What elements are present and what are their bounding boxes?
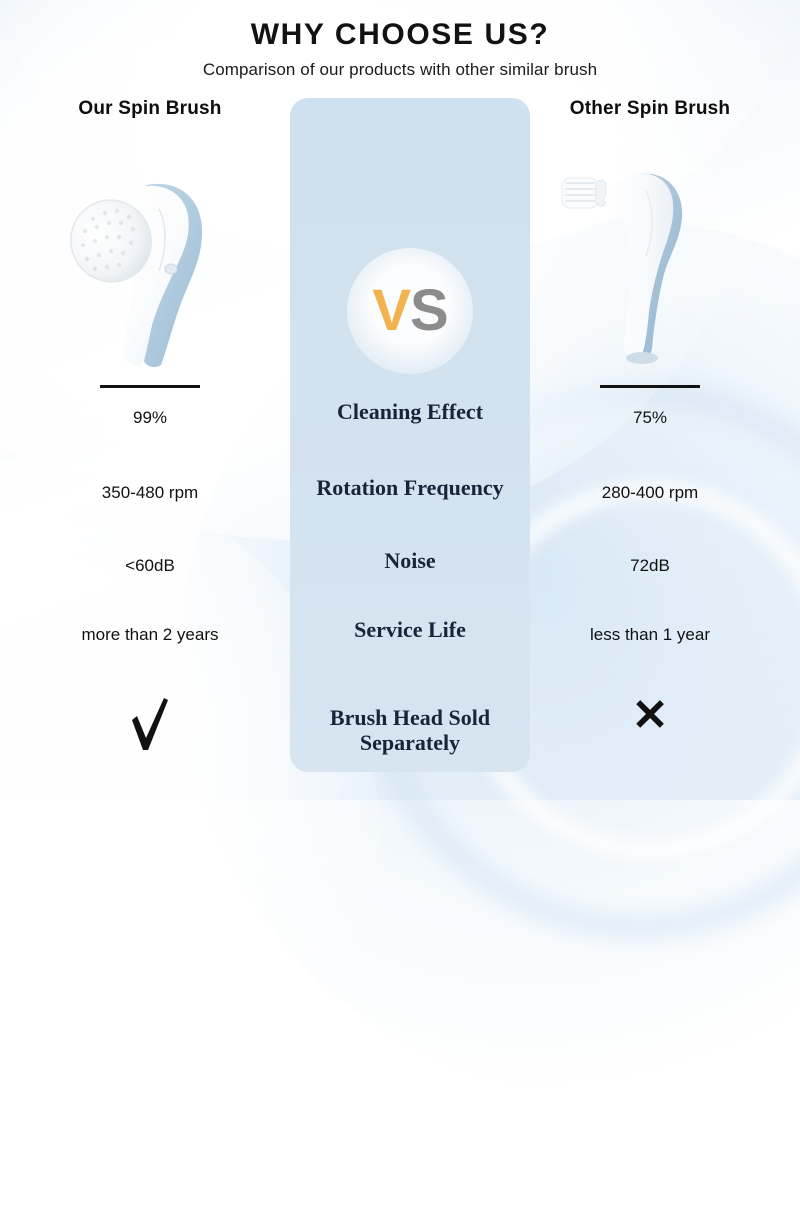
- vs-letter-s: S: [410, 278, 448, 343]
- criterion-brush-head-sold-separately: Brush Head Sold Separately: [290, 706, 530, 755]
- criterion-noise: Noise: [290, 549, 530, 574]
- divider-left: [100, 385, 200, 388]
- product-image-our-spin-brush: [55, 153, 245, 373]
- value-right-cleaning-effect: 75%: [515, 408, 785, 428]
- product-image-other-spin-brush: [560, 156, 745, 371]
- column-our-spin-brush: Our Spin Brush: [15, 98, 285, 120]
- vs-letter-v: V: [372, 278, 410, 343]
- criterion-cleaning-effect: Cleaning Effect: [290, 400, 530, 425]
- value-right-service-life: less than 1 year: [515, 625, 785, 645]
- column-heading-right: Other Spin Brush: [515, 98, 785, 120]
- page-title: WHY CHOOSE US?: [0, 18, 800, 52]
- cross-mark-symbol: ✕: [515, 694, 785, 738]
- column-other-spin-brush: Other Spin Brush: [515, 98, 785, 120]
- value-right-rotation-frequency: 280-400 rpm: [515, 483, 785, 503]
- divider-right: [600, 385, 700, 388]
- value-left-service-life: more than 2 years: [15, 625, 285, 645]
- vs-label: VS: [372, 282, 447, 340]
- column-heading-left: Our Spin Brush: [15, 98, 285, 120]
- header: WHY CHOOSE US? Comparison of our product…: [0, 18, 800, 80]
- vs-badge: VS: [347, 248, 473, 374]
- value-right-noise: 72dB: [515, 556, 785, 576]
- criterion-service-life: Service Life: [290, 618, 530, 643]
- value-left-noise: <60dB: [15, 556, 285, 576]
- page-subtitle: Comparison of our products with other si…: [0, 60, 800, 80]
- criterion-rotation-frequency: Rotation Frequency: [290, 476, 530, 501]
- verdict-check-mark: [15, 694, 285, 754]
- value-left-rotation-frequency: 350-480 rpm: [15, 483, 285, 503]
- verdict-cross-mark: ✕: [515, 694, 785, 738]
- value-left-cleaning-effect: 99%: [15, 408, 285, 428]
- comparison-center-panel: VS Cleaning Effect Rotation Frequency No…: [290, 98, 530, 772]
